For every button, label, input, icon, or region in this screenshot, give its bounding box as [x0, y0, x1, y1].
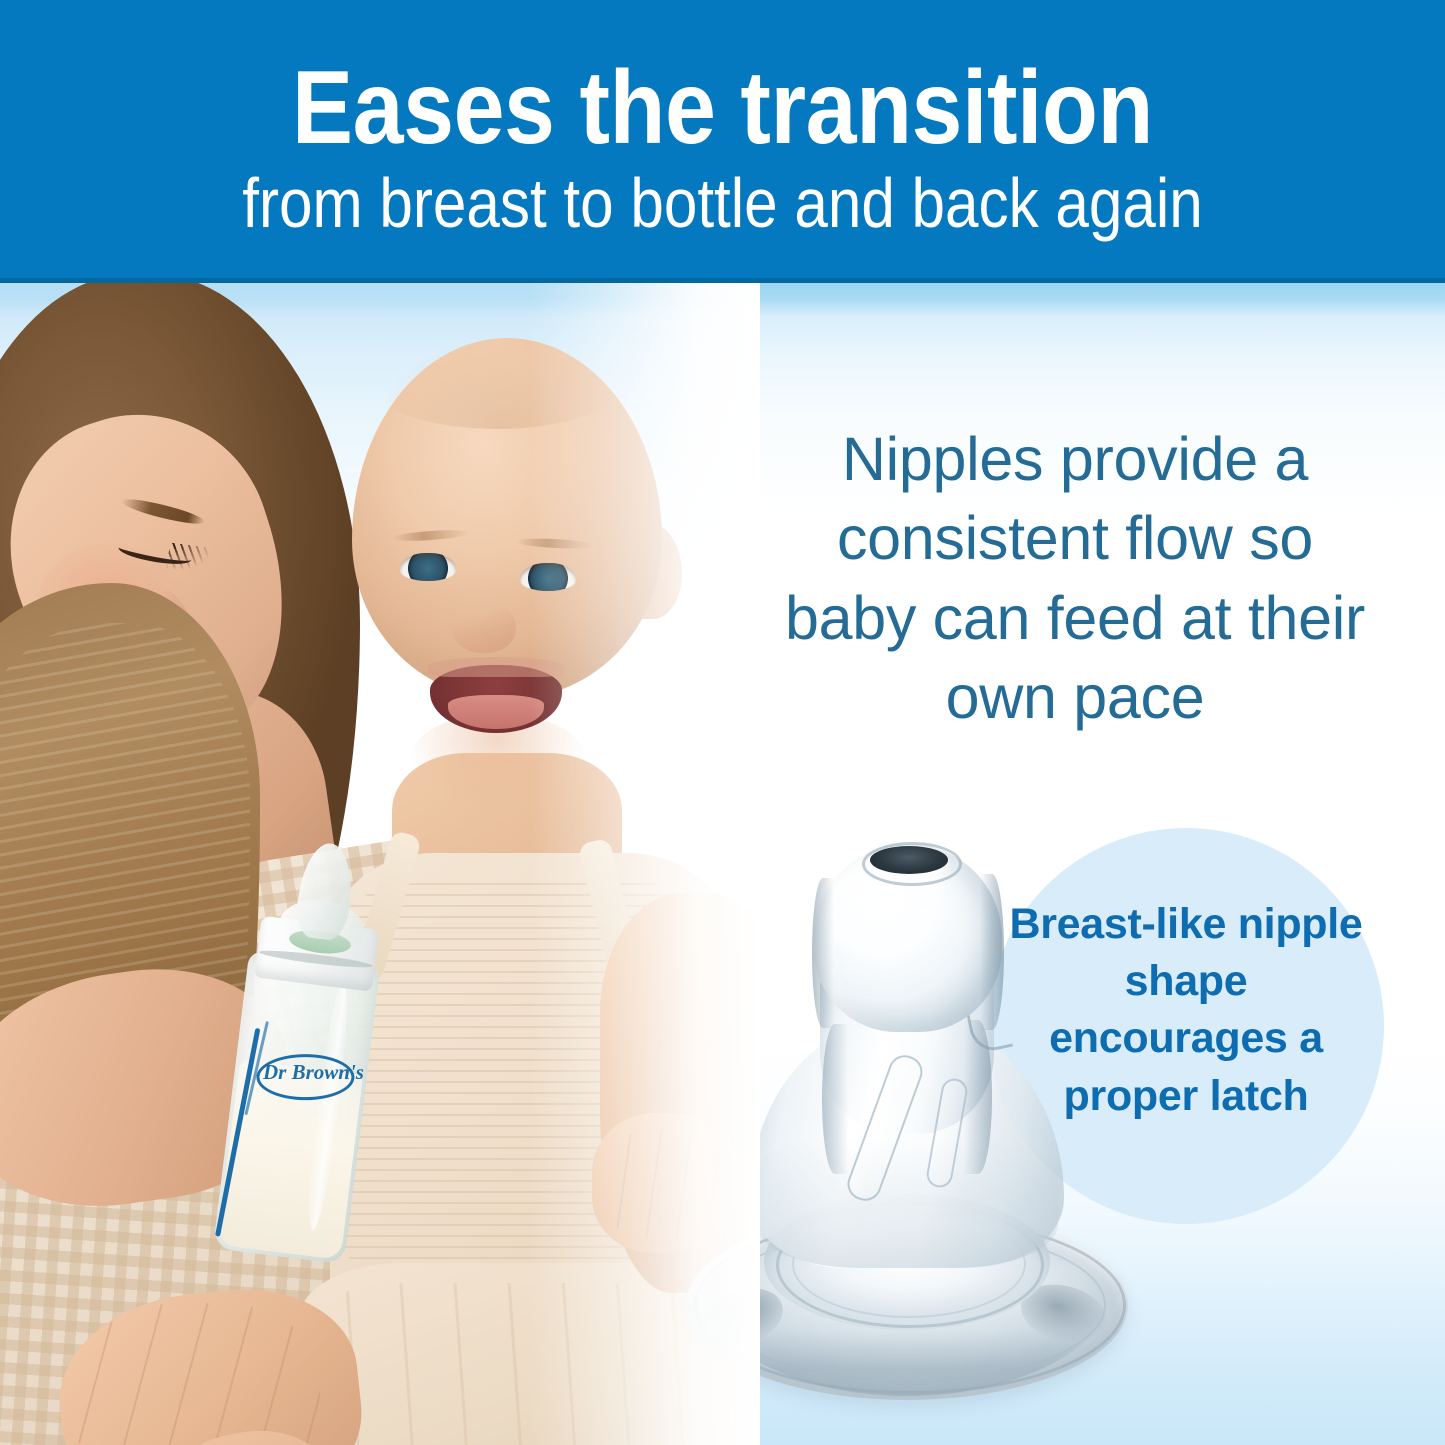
banner-title: Eases the transition	[87, 56, 1359, 160]
mother-fingers	[70, 1303, 320, 1445]
baby-upper-lip	[428, 657, 564, 677]
baby-eye-right	[520, 563, 578, 593]
baby-eye-left	[400, 553, 458, 583]
baby-ribbed-fabric	[336, 883, 724, 1303]
baby-nose	[452, 601, 516, 653]
baby-hair	[372, 339, 622, 429]
bottle-logo-text: Dr Brown's	[263, 1060, 343, 1085]
lifestyle-photo: Dr Brown's	[0, 283, 760, 1445]
nipple-tip-opening	[870, 846, 948, 874]
baby-ear	[620, 523, 682, 619]
product-feature-image: Eases the transition from breast to bott…	[0, 0, 1445, 1445]
baby-skirt-folds	[310, 1283, 760, 1445]
nipple-skirt-shading	[756, 1138, 1058, 1268]
baby-arm-right	[600, 893, 760, 1293]
nipple-dome-highlight-secondary	[904, 900, 938, 922]
baby-knuckles	[600, 1129, 728, 1239]
mother-eyelashes	[166, 542, 209, 573]
nipple-dome-edge-left	[812, 878, 834, 1028]
banner-subtitle: from breast to bottle and back again	[101, 168, 1344, 238]
headline-text: Nipples provide a consistent flow so bab…	[775, 420, 1375, 737]
baby-strap-right	[578, 837, 647, 996]
nipple-seam-left	[822, 1024, 848, 1174]
baby-hand-right	[592, 1113, 742, 1253]
nipple-dome-edge-right	[980, 874, 1004, 1030]
